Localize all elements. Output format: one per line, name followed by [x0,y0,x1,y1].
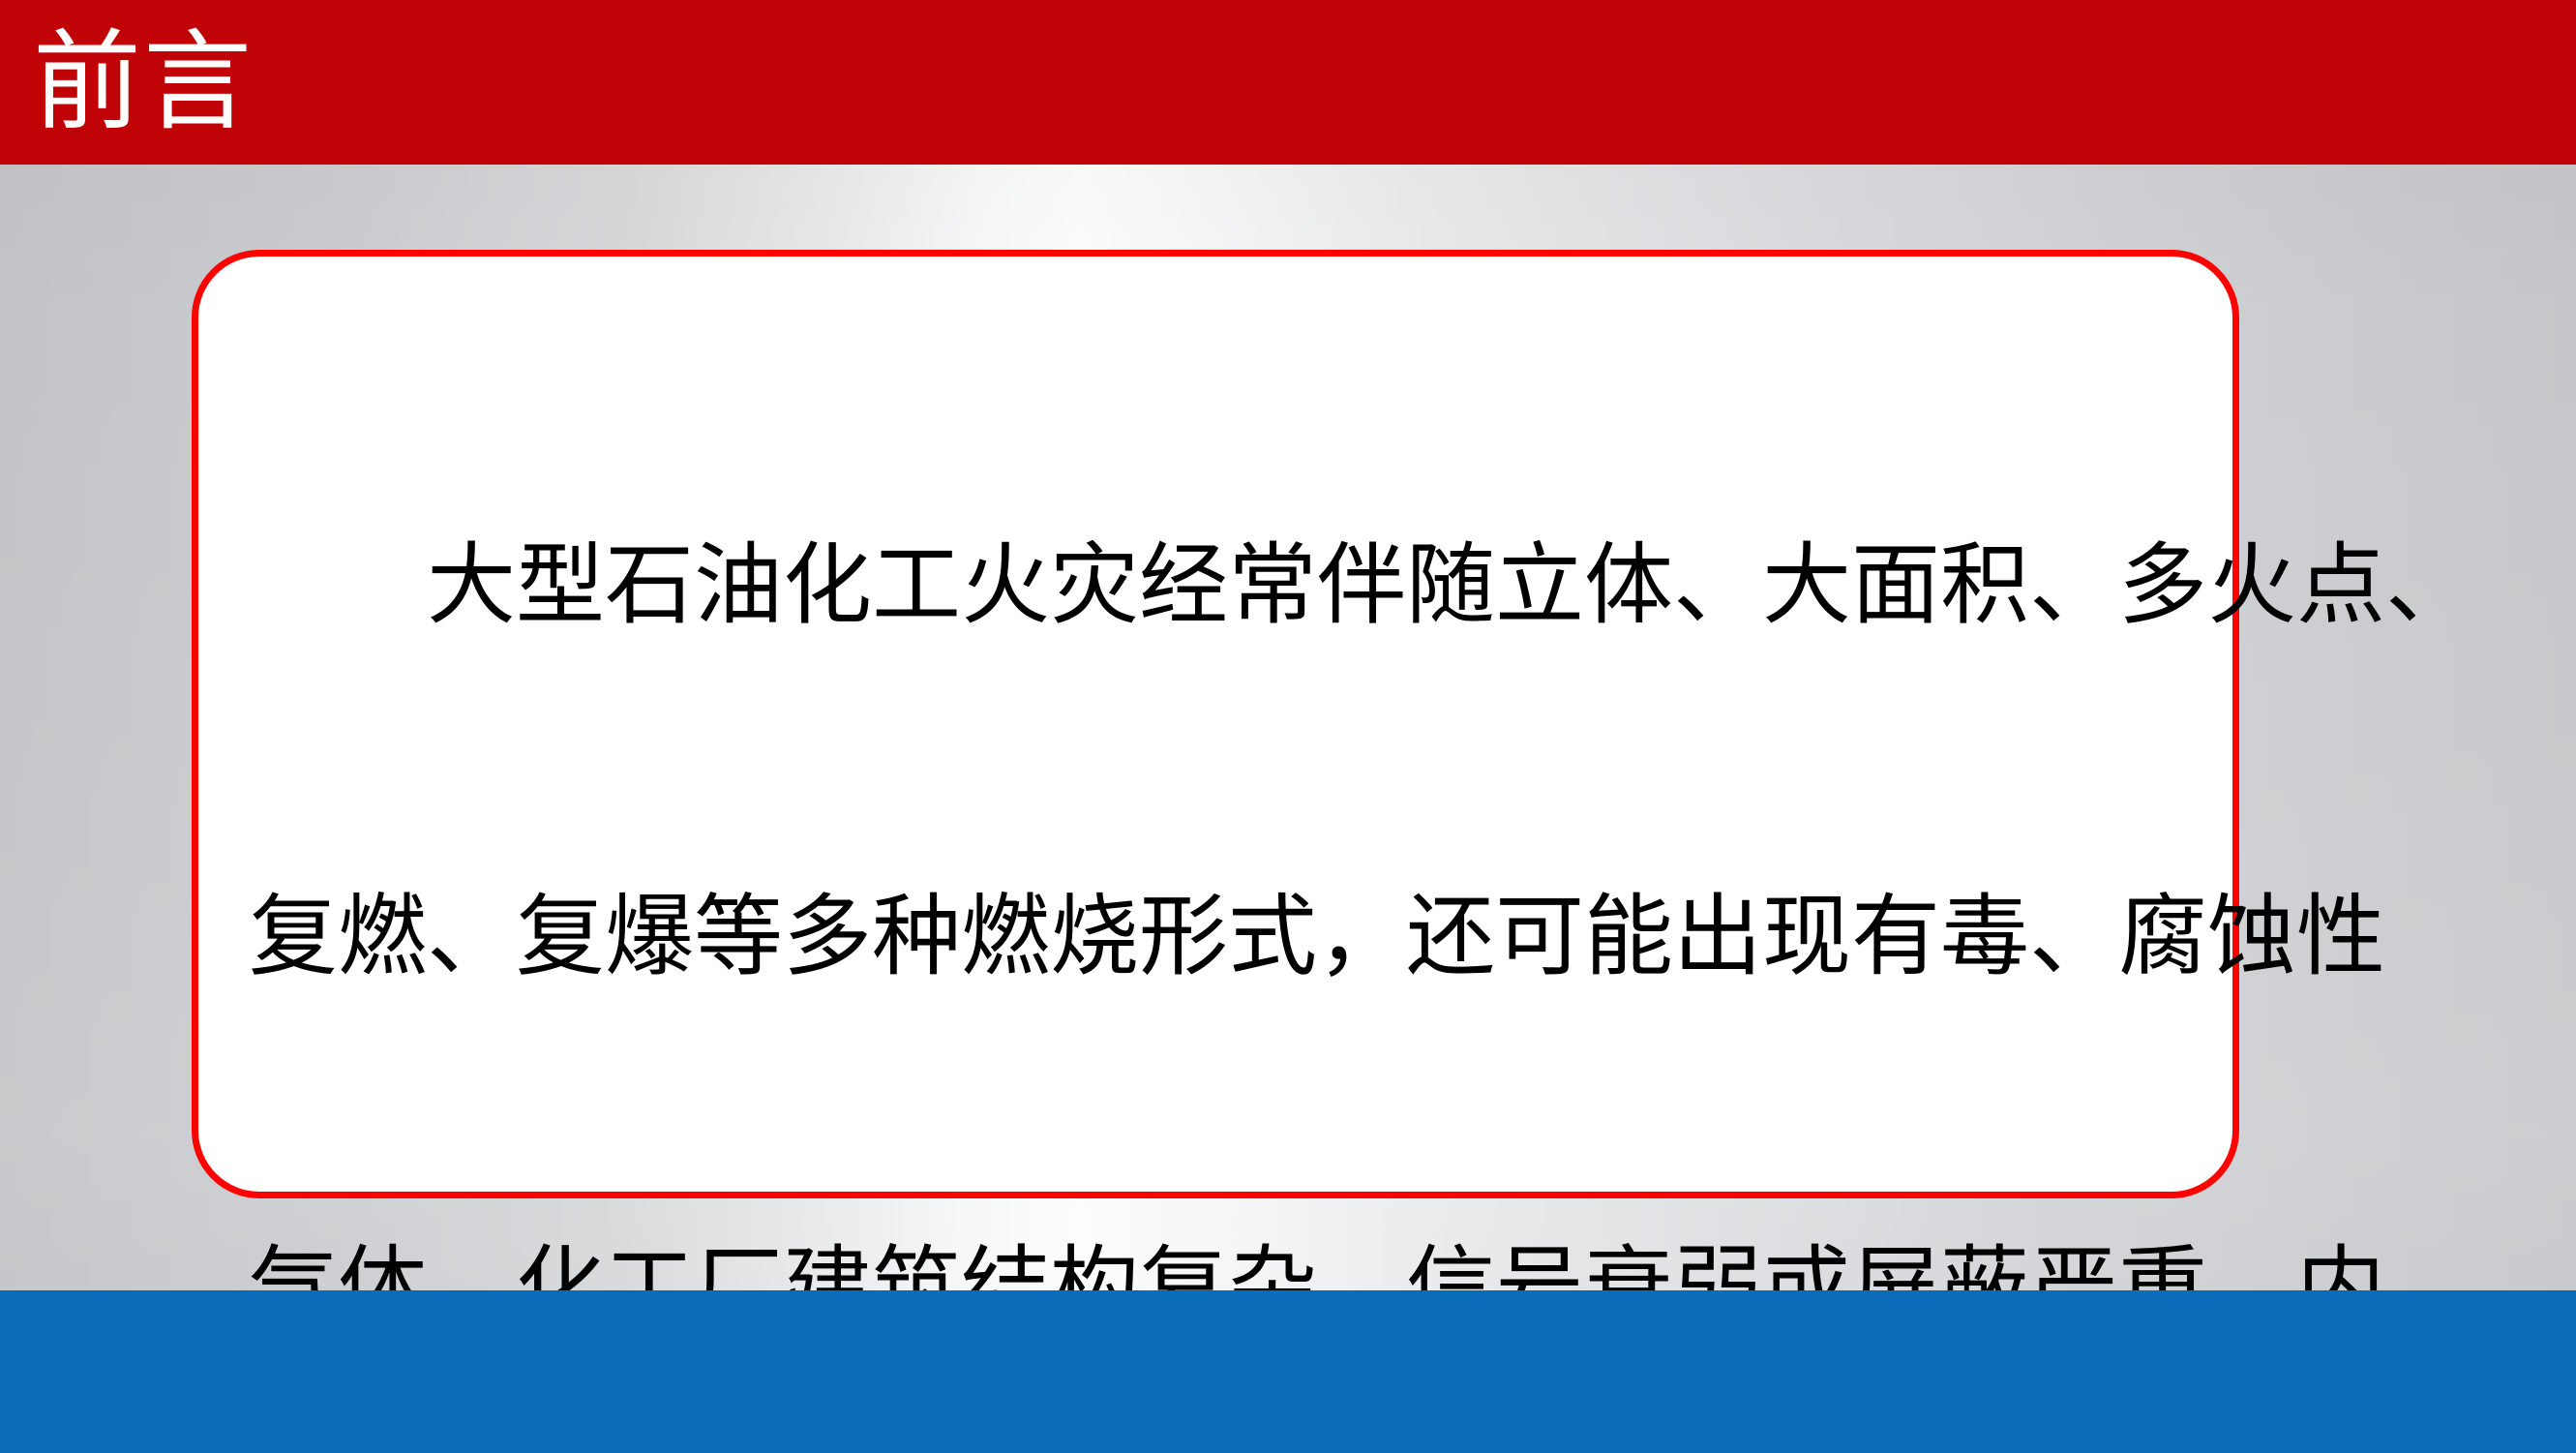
content-card: 大型石油化工火灾经常伴随立体、大面积、多火点、 复燃、复爆等多种燃烧形式，还可能… [192,250,2239,1198]
page-title: 前言 [33,28,254,136]
bottom-accent-bar [0,1290,2576,1453]
slide-canvas: 前言 大型石油化工火灾经常伴随立体、大面积、多火点、 复燃、复爆等多种燃烧形式，… [0,0,2576,1453]
title-banner: 前言 [0,0,2576,165]
body-line: 复燃、复爆等多种燃烧形式，还可能出现有毒、腐蚀性 [249,879,2184,996]
body-paragraph: 大型石油化工火灾经常伴随立体、大面积、多火点、 复燃、复爆等多种燃烧形式，还可能… [249,293,2184,1453]
body-line: 大型石油化工火灾经常伴随立体、大面积、多火点、 [249,528,2184,645]
